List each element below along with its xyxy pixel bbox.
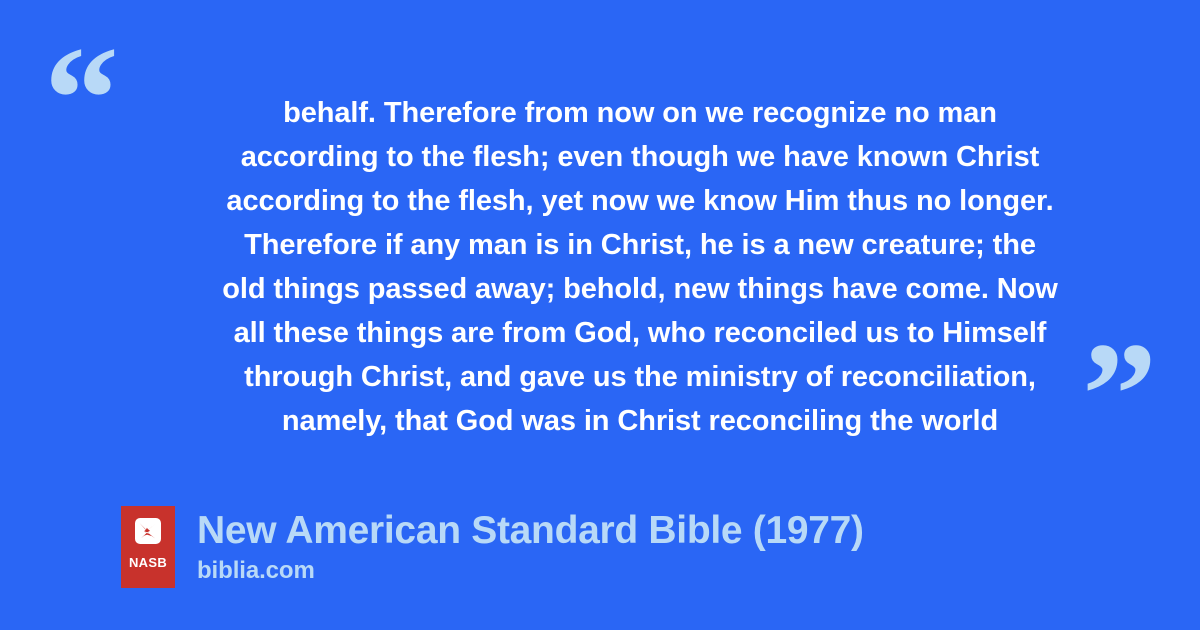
- opening-quote-icon: “: [44, 24, 117, 174]
- quote-text: behalf. Therefore from now on we recogni…: [144, 91, 1136, 443]
- quote-line: old things passed away; behold, new thin…: [144, 267, 1136, 311]
- quote-line: namely, that God was in Christ reconcili…: [144, 399, 1136, 443]
- quote-line: behalf. Therefore from now on we recogni…: [144, 91, 1136, 135]
- quote-line: all these things are from God, who recon…: [144, 311, 1136, 355]
- quote-line: according to the flesh, yet now we know …: [144, 179, 1136, 223]
- source-title: New American Standard Bible (1977): [197, 508, 864, 554]
- attribution: NASB New American Standard Bible (1977) …: [121, 506, 864, 588]
- closing-quote-icon: ”: [1082, 320, 1155, 470]
- quote-line: Therefore if any man is in Christ, he is…: [144, 223, 1136, 267]
- quote-line: through Christ, and gave us the ministry…: [144, 355, 1136, 399]
- nasb-emblem-icon: [135, 518, 161, 544]
- nasb-logo-badge: NASB: [121, 506, 175, 588]
- attribution-text: New American Standard Bible (1977) bibli…: [197, 506, 864, 586]
- quote-card: “ behalf. Therefore from now on we recog…: [0, 0, 1200, 630]
- quote-line: according to the flesh; even though we h…: [144, 135, 1136, 179]
- source-site[interactable]: biblia.com: [197, 556, 864, 586]
- nasb-logo-label: NASB: [129, 556, 167, 569]
